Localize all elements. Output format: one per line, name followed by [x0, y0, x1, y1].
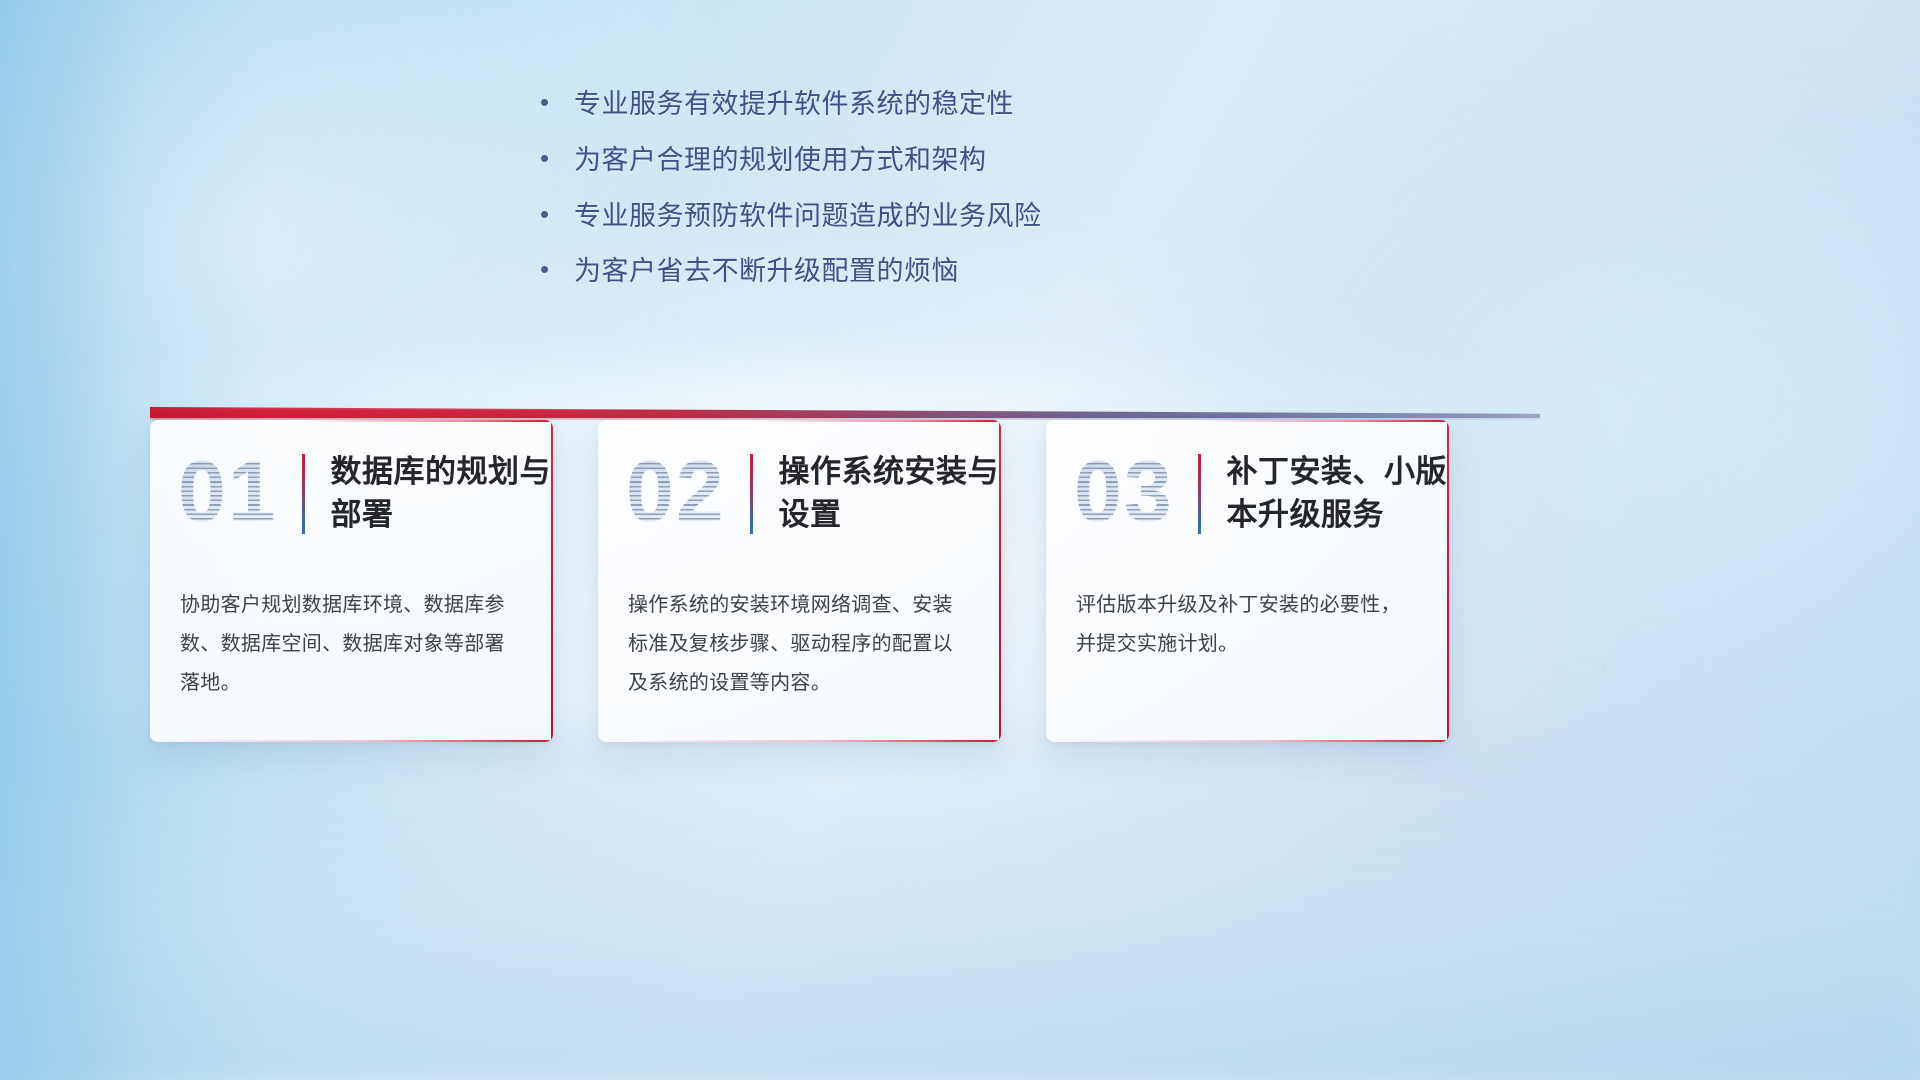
- card-header: 03 补丁安装、小版本升级服务: [1046, 420, 1449, 572]
- service-card-01[interactable]: 01 数据库的规划与部署 协助客户规划数据库环境、数据库参数、数据库空间、数据库…: [150, 420, 553, 742]
- card-accent-bottom: [598, 740, 1001, 743]
- service-card-02[interactable]: 02 操作系统安装与设置 操作系统的安装环境网络调查、安装标准及复核步骤、驱动程…: [598, 420, 1001, 742]
- card-number: 03: [1074, 449, 1192, 535]
- card-body-text: 协助客户规划数据库环境、数据库参数、数据库空间、数据库对象等部署落地。: [150, 572, 553, 703]
- bullet-dot-icon: •: [540, 256, 574, 282]
- card-accent-bottom: [150, 740, 553, 743]
- divider-highlight: [150, 407, 1540, 410]
- service-card-group: 01 数据库的规划与部署 协助客户规划数据库环境、数据库参数、数据库空间、数据库…: [150, 420, 1450, 742]
- list-item: • 为客户省去不断升级配置的烦恼: [540, 255, 1160, 289]
- bullet-text: 为客户省去不断升级配置的烦恼: [574, 255, 1160, 289]
- bullet-dot-icon: •: [540, 89, 574, 115]
- service-card-03[interactable]: 03 补丁安装、小版本升级服务 评估版本升级及补丁安装的必要性，并提交实施计划。: [1046, 420, 1449, 742]
- list-item: • 专业服务有效提升软件系统的稳定性: [540, 88, 1160, 122]
- card-divider-icon: [302, 454, 305, 534]
- card-accent-bottom: [1046, 740, 1449, 743]
- bullet-text: 为客户合理的规划使用方式和架构: [574, 144, 1160, 178]
- bullet-dot-icon: •: [540, 145, 574, 171]
- bullet-text: 专业服务有效提升软件系统的稳定性: [574, 88, 1160, 122]
- card-body-text: 操作系统的安装环境网络调查、安装标准及复核步骤、驱动程序的配置以及系统的设置等内…: [598, 572, 1001, 703]
- benefits-bullet-list: • 专业服务有效提升软件系统的稳定性 • 为客户合理的规划使用方式和架构 • 专…: [540, 88, 1160, 311]
- card-body-text: 评估版本升级及补丁安装的必要性，并提交实施计划。: [1046, 572, 1449, 664]
- card-header: 01 数据库的规划与部署: [150, 420, 553, 572]
- bullet-dot-icon: •: [540, 201, 574, 227]
- card-header: 02 操作系统安装与设置: [598, 420, 1001, 572]
- card-divider-icon: [750, 454, 753, 534]
- card-title: 补丁安装、小版本升级服务: [1227, 451, 1450, 537]
- card-title: 操作系统安装与设置: [779, 451, 1002, 537]
- list-item: • 专业服务预防软件问题造成的业务风险: [540, 200, 1160, 234]
- list-item: • 为客户合理的规划使用方式和架构: [540, 144, 1160, 178]
- background-bottom-fade: [0, 713, 1920, 1080]
- card-title: 数据库的规划与部署: [331, 451, 554, 537]
- card-number: 01: [178, 449, 296, 535]
- card-divider-icon: [1198, 454, 1201, 534]
- bullet-text: 专业服务预防软件问题造成的业务风险: [574, 200, 1160, 234]
- card-number: 02: [626, 449, 744, 535]
